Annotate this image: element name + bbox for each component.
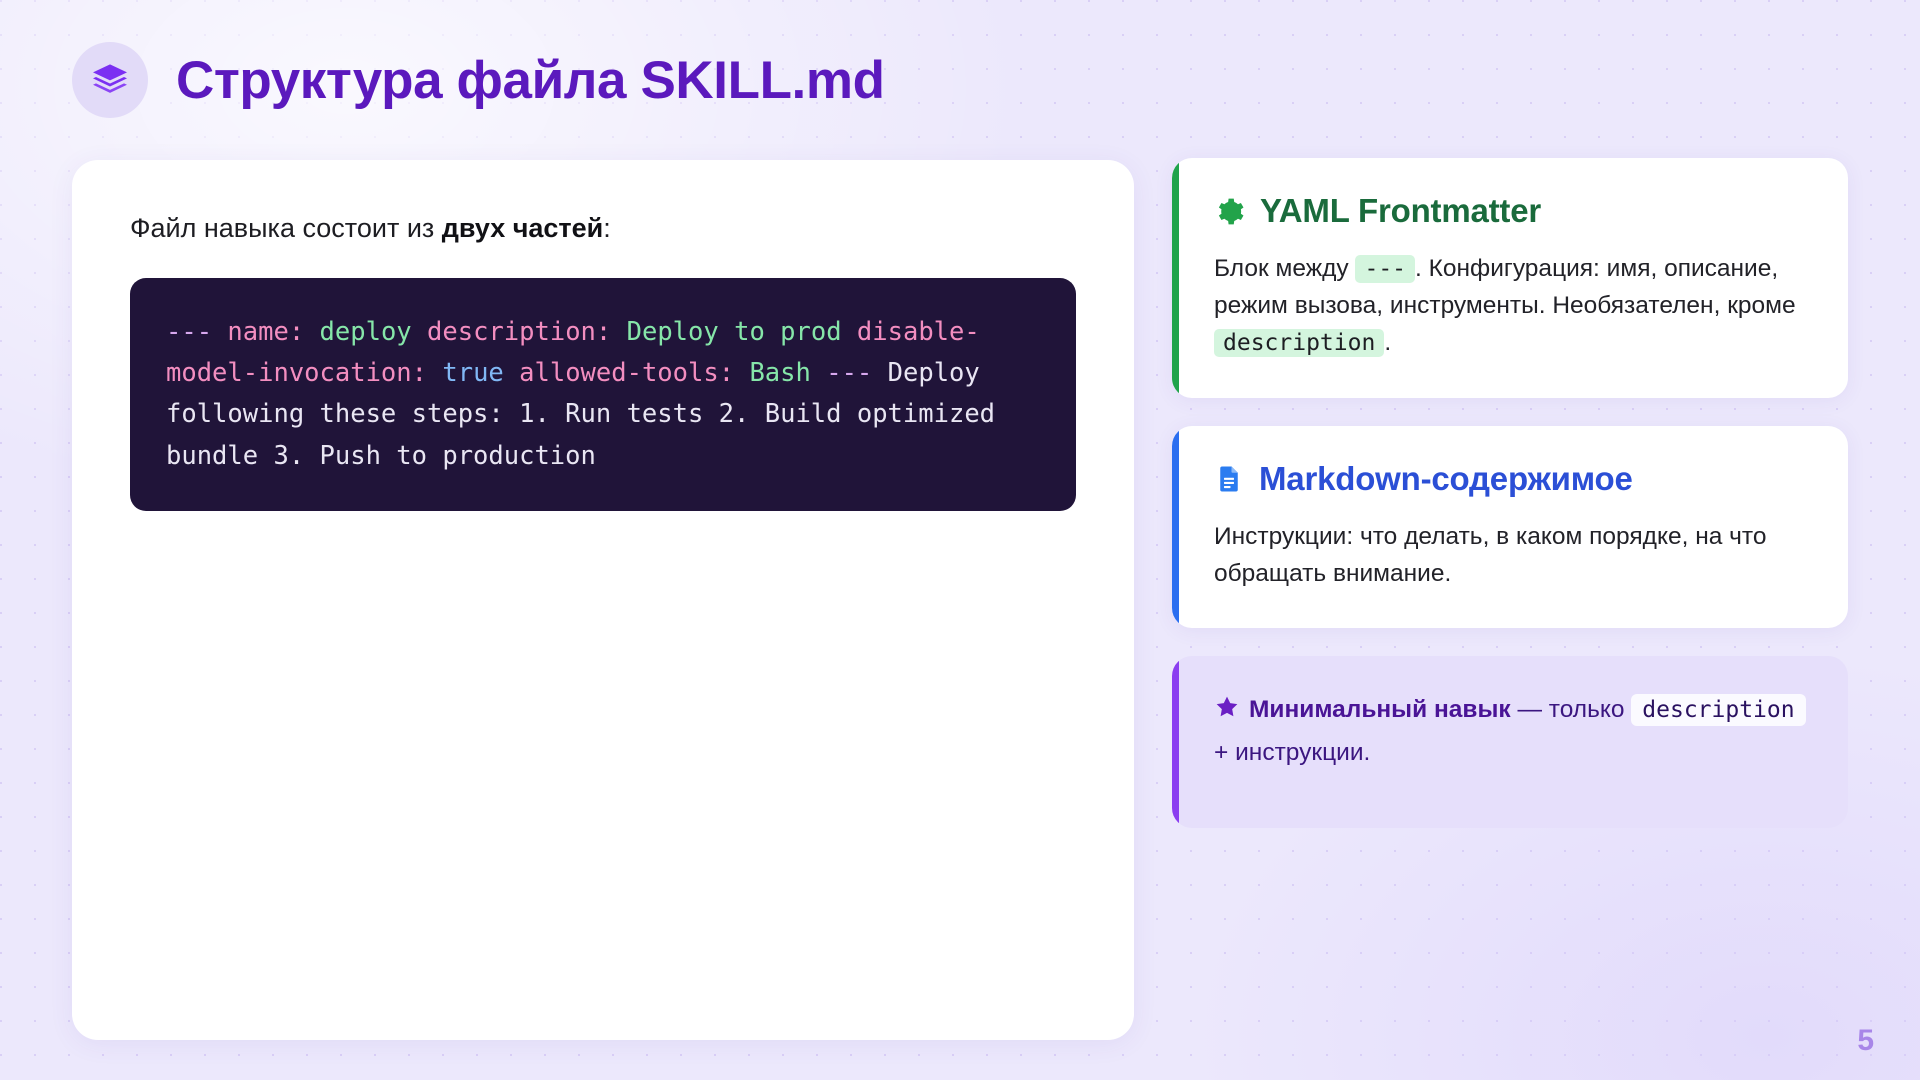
code-token-text [734,358,749,388]
card-minimal-skill: Минимальный навык — только description +… [1172,656,1848,828]
code-token-dash: --- [166,317,212,347]
right-cards-column: YAML Frontmatter Блок между ---. Конфигу… [1172,158,1848,828]
code-token-text [611,317,626,347]
code-token-text [504,358,519,388]
lead-bold: двух частей [442,213,603,243]
code-token-key: name: [227,317,304,347]
card-yaml-frontmatter: YAML Frontmatter Блок между ---. Конфигу… [1172,158,1848,398]
slide-header: Структура файла SKILL.md [72,42,885,118]
page-number: 5 [1857,1024,1874,1058]
gear-icon [1214,196,1245,227]
layers-stack-icon [72,42,148,118]
code-token-text [304,317,319,347]
star-icon [1214,693,1240,733]
card-markdown-content: Markdown-содержимое Инструкции: что дела… [1172,426,1848,628]
body-text: Блок между [1214,255,1355,282]
page-title: Структура файла SKILL.md [176,50,885,111]
inline-code: --- [1355,255,1415,283]
code-token-key: allowed-tools: [519,358,734,388]
code-token-text [842,317,857,347]
code-token-text [212,317,227,347]
code-token-key: description: [427,317,611,347]
code-token-bool: true [442,358,503,388]
card-title: Markdown-содержимое [1259,460,1633,498]
inline-code: description [1214,329,1384,357]
body-text: . [1384,329,1391,356]
body-text: Инструкции: что делать, в каком порядке,… [1214,523,1767,587]
code-token-text [412,317,427,347]
code-token-val: deploy [320,317,412,347]
card-header: YAML Frontmatter [1214,192,1808,230]
code-token-val: Deploy to prod [627,317,842,347]
left-content-panel: Файл навыка состоит из двух частей: --- … [72,160,1134,1040]
lead-suffix: : [603,213,611,243]
code-token-text [811,358,826,388]
document-icon [1214,464,1244,494]
card-title: YAML Frontmatter [1260,192,1541,230]
lead-prefix: Файл навыка состоит из [130,213,442,243]
skill-md-code-block: --- name: deploy description: Deploy to … [130,278,1076,511]
card-header: Markdown-содержимое [1214,460,1808,498]
code-token-val: Bash [749,358,810,388]
minimal-skill-tail: + инструкции. [1214,739,1370,766]
minimal-skill-bold: Минимальный навык [1249,696,1511,723]
code-token-text [427,358,442,388]
code-token-dash: --- [826,358,872,388]
minimal-skill-dash: — только [1511,696,1632,723]
card-body: Блок между ---. Конфигурация: имя, описа… [1214,250,1808,362]
code-token-text [872,358,887,388]
card-body: Инструкции: что делать, в каком порядке,… [1214,518,1808,592]
minimal-skill-text: Минимальный навык — только description +… [1214,690,1808,772]
inline-code-description: description [1631,694,1805,726]
lead-paragraph: Файл навыка состоит из двух частей: [130,210,1076,248]
